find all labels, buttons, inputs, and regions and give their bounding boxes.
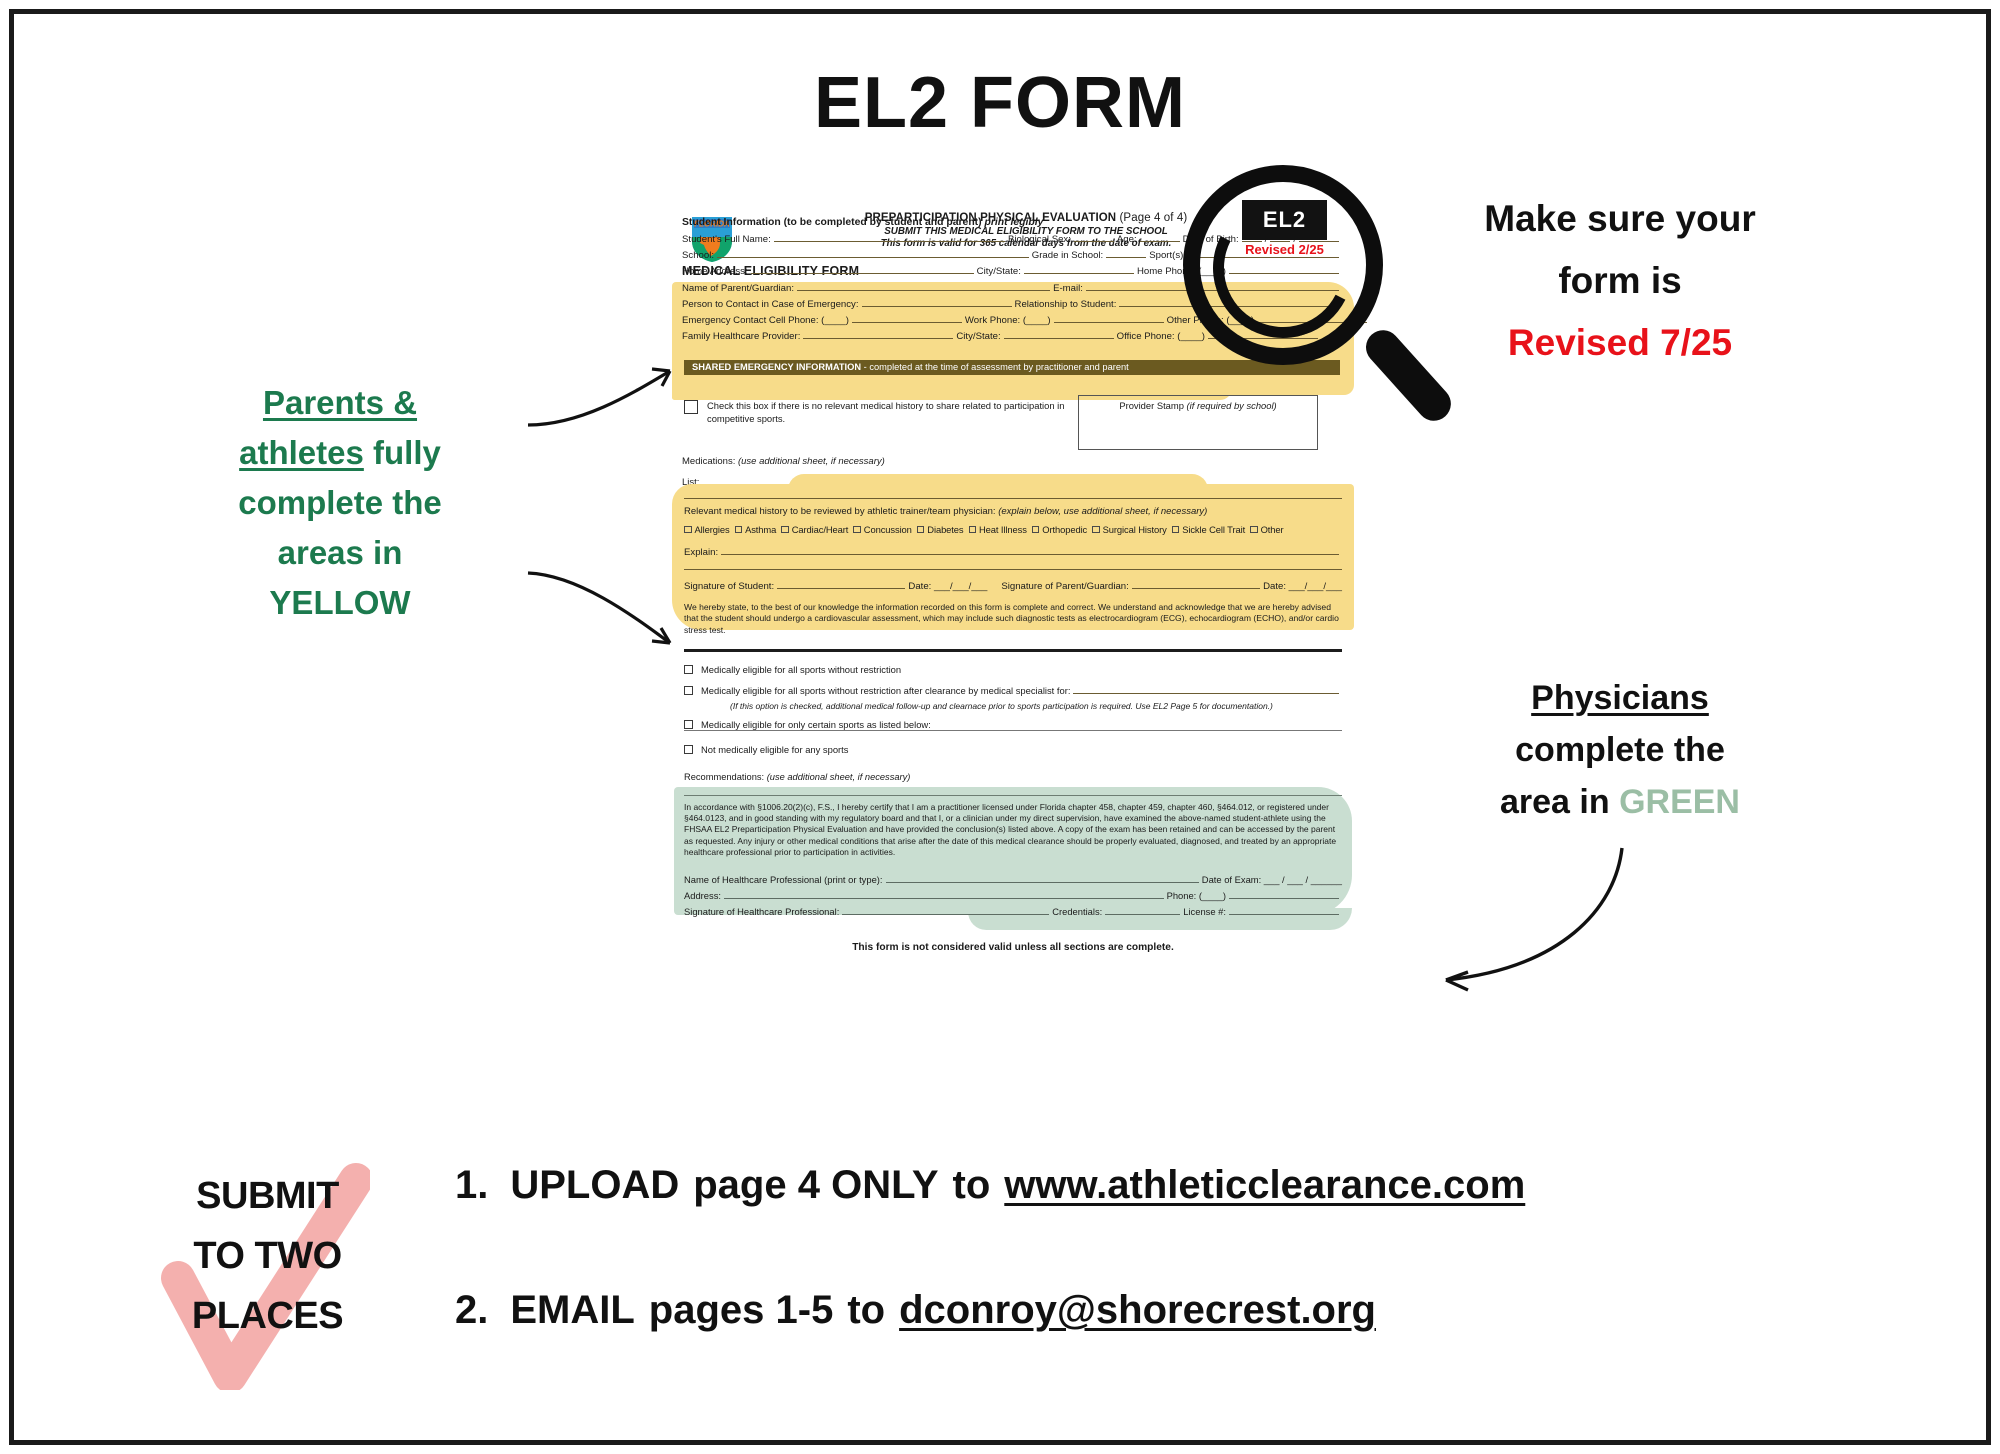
label-credentials: Credentials: xyxy=(1052,904,1102,920)
hereby-statement: We hereby state, to the best of our know… xyxy=(684,602,1342,636)
input-license[interactable] xyxy=(1229,904,1339,915)
annotation-parents-athletes: Parents & athletes fully complete the ar… xyxy=(175,378,505,628)
input-school[interactable] xyxy=(717,247,1029,258)
eligibility-option-label: Medically eligible for all sports withou… xyxy=(701,664,901,675)
condition-label: Sickle Cell Trait xyxy=(1182,524,1245,535)
step2-to: to xyxy=(847,1288,885,1332)
annotation-left-line2-underlined: athletes xyxy=(239,434,364,471)
label-grade: Grade in School: xyxy=(1032,248,1103,263)
annotation-physicians-line2: complete the xyxy=(1515,731,1725,769)
label-relationship: Relationship to Student: xyxy=(1015,297,1117,312)
label-family-provider: Family Healthcare Provider: xyxy=(682,329,800,344)
submit-line2: TO TWO xyxy=(193,1235,341,1277)
signature-row: Signature of Student: Date: ___/___/___ … xyxy=(684,578,1342,594)
label-work-phone: Work Phone: (____) xyxy=(965,313,1051,328)
student-info-heading: Student Information xyxy=(682,217,781,228)
annotation-left-line2-rest: fully xyxy=(364,434,441,471)
label-provider-city-state: City/State: xyxy=(956,329,1000,344)
no-history-label: Check this box if there is no relevant m… xyxy=(707,400,1104,425)
checkbox-square[interactable] xyxy=(1032,526,1040,534)
el2-badge: EL2 xyxy=(1242,200,1327,240)
step1-number: 1. xyxy=(455,1163,488,1207)
eligibility-option-label: Medically eligible for all sports withou… xyxy=(701,685,1070,696)
input-credentials[interactable] xyxy=(1105,904,1180,915)
checkbox-square[interactable] xyxy=(735,526,743,534)
step1-object: page 4 ONLY xyxy=(693,1163,938,1207)
checkbox-item[interactable]: Diabetes xyxy=(917,524,964,535)
input-city-state[interactable] xyxy=(1024,263,1134,274)
legal-paragraph: In accordance with §1006.20(2)(c), F.S.,… xyxy=(684,802,1342,858)
label-age: Age: xyxy=(1117,232,1137,247)
step2-action: EMAIL xyxy=(510,1288,634,1332)
label-date-of-exam: Date of Exam: ___ / ___ / ______ xyxy=(1202,872,1342,888)
arrow-to-green-section xyxy=(1410,840,1640,1000)
medications-italic: (use additional sheet, if necessary) xyxy=(738,456,885,467)
page-title: EL2 FORM xyxy=(0,62,2000,144)
label-emergency-cell: Emergency Contact Cell Phone: (____) xyxy=(682,313,849,328)
checkbox-eligible-certain-sports[interactable] xyxy=(684,720,693,729)
label-date-parent: Date: ___/___/___ xyxy=(1263,579,1342,594)
annotation-right-line2: form is xyxy=(1558,260,1681,301)
input-home-address[interactable] xyxy=(751,263,974,274)
condition-label: Concussion xyxy=(864,524,912,535)
submit-step-2: 2.EMAILpages 1-5todconroy@shorecrest.org xyxy=(455,1288,1376,1333)
input-work-phone[interactable] xyxy=(1054,312,1164,323)
annotation-left-line1: Parents & xyxy=(263,384,417,421)
el2-revised-text: Revised 2/25 xyxy=(1242,242,1327,257)
poster-page: EL2 FORM FLORIDA PREPARTICIPATION PHYSIC… xyxy=(0,0,2000,1454)
checkbox-item[interactable]: Sickle Cell Trait xyxy=(1172,524,1245,535)
validity-note: This form is not considered valid unless… xyxy=(668,942,1358,953)
input-signature-parent[interactable] xyxy=(1132,578,1260,589)
checkbox-item[interactable]: Heat Illness xyxy=(969,524,1027,535)
annotation-green-word: GREEN xyxy=(1619,783,1740,821)
explain-row: Explain: xyxy=(684,544,1342,560)
input-signature-student[interactable] xyxy=(777,578,905,589)
history-intro: Relevant medical history to be reviewed … xyxy=(684,506,996,517)
label-hc-address: Address: xyxy=(684,888,721,904)
submit-to-two-places-label: SUBMIT TO TWO PLACES xyxy=(150,1166,385,1346)
field-row-hc-address: Address: Phone: (____) xyxy=(684,888,1342,904)
field-row-hc-name: Name of Healthcare Professional (print o… xyxy=(684,872,1342,888)
checkbox-square[interactable] xyxy=(1250,526,1258,534)
arrow-to-yellow-bottom xyxy=(520,545,720,675)
input-provider-city-state[interactable] xyxy=(1004,328,1114,339)
eligibility-options: Medically eligible for all sports withou… xyxy=(684,664,1342,738)
input-hc-name[interactable] xyxy=(886,872,1199,883)
history-intro-italic: (explain below, use additional sheet, if… xyxy=(998,506,1207,517)
checkbox-item[interactable]: Concussion xyxy=(853,524,912,535)
input-hc-address[interactable] xyxy=(724,888,1164,899)
section-divider-thick xyxy=(684,649,1342,652)
annotation-physicians-underlined: Physicians xyxy=(1531,679,1709,717)
label-hc-phone: Phone: (____) xyxy=(1167,888,1226,904)
checkbox-not-eligible[interactable] xyxy=(684,745,693,754)
el2-badge-text: EL2 xyxy=(1263,207,1306,233)
annotation-left-line3: complete the xyxy=(238,484,442,521)
label-biological-sex: Biological Sex: xyxy=(1008,232,1071,247)
eligibility-option-row[interactable]: Medically eligible for all sports withou… xyxy=(684,664,1342,675)
step2-link-email[interactable]: dconroy@shorecrest.org xyxy=(899,1288,1376,1332)
submit-line1: SUBMIT xyxy=(196,1175,339,1217)
arrow-to-yellow-top xyxy=(520,345,720,455)
no-history-checkbox-row[interactable]: Check this box if there is no relevant m… xyxy=(684,400,1104,425)
checkbox-item[interactable]: Other xyxy=(1250,524,1283,535)
input-emergency-cell[interactable] xyxy=(852,312,962,323)
condition-label: Diabetes xyxy=(927,524,963,535)
condition-label: Surgical History xyxy=(1103,524,1167,535)
healthcare-professional-fields: Name of Healthcare Professional (print o… xyxy=(684,872,1342,920)
condition-label: Orthopedic xyxy=(1042,524,1087,535)
step1-link-athleticclearance[interactable]: www.athleticclearance.com xyxy=(1004,1163,1525,1207)
step2-number: 2. xyxy=(455,1288,488,1332)
condition-label: Heat Illness xyxy=(979,524,1027,535)
eligibility-option-label: Not medically eligible for any sports xyxy=(701,744,848,755)
history-condition-checkboxes: AllergiesAsthmaCardiac/HeartConcussionDi… xyxy=(684,524,1342,535)
step1-action: UPLOAD xyxy=(510,1163,679,1207)
checkbox-square[interactable] xyxy=(684,526,692,534)
eligibility-option-row[interactable]: Medically eligible for only certain spor… xyxy=(684,719,1342,730)
eligibility-divider xyxy=(684,730,1342,731)
checkbox-item[interactable]: Surgical History xyxy=(1092,524,1167,535)
checkbox-eligible-after-clearance[interactable] xyxy=(684,686,693,695)
checkbox-square[interactable] xyxy=(853,526,861,534)
annotation-physicians-line3-prefix: area in xyxy=(1500,783,1619,821)
label-license: License #: xyxy=(1183,904,1226,920)
label-home-address: Home Address: xyxy=(682,264,748,279)
input-grade[interactable] xyxy=(1106,247,1146,258)
medications-label: Medications: xyxy=(682,456,735,467)
label-emergency-contact: Person to Contact in Case of Emergency: xyxy=(682,297,859,312)
annotation-left-line5: YELLOW xyxy=(269,584,410,621)
eligibility-option-row[interactable]: Not medically eligible for any sports xyxy=(684,744,1342,755)
condition-label: Allergies xyxy=(695,524,730,535)
label-city-state: City/State: xyxy=(977,264,1021,279)
eligibility-option-label: Medically eligible for only certain spor… xyxy=(701,719,931,730)
step2-object: pages 1-5 xyxy=(649,1288,834,1332)
shared-bar-rest: - completed at the time of assessment by… xyxy=(861,362,1129,372)
label-full-name: Student's Full Name: xyxy=(682,232,771,247)
student-info-heading-paren: (to be completed by student and parent) xyxy=(784,217,982,228)
input-biological-sex[interactable] xyxy=(1074,231,1114,242)
label-hc-name: Name of Healthcare Professional (print o… xyxy=(684,872,883,888)
annotation-physicians-green: Physicians complete the area in GREEN xyxy=(1420,672,1820,828)
recommendations-row: Recommendations: (use additional sheet, … xyxy=(684,772,910,782)
label-parent-guardian: Name of Parent/Guardian: xyxy=(682,281,794,296)
input-parent-guardian[interactable] xyxy=(797,280,1050,291)
checkbox-item[interactable]: Cardiac/Heart xyxy=(781,524,848,535)
green-divider xyxy=(684,795,1342,796)
input-hc-phone[interactable] xyxy=(1229,888,1339,899)
annotation-left-line4: areas in xyxy=(278,534,403,571)
checkbox-item[interactable]: Orthopedic xyxy=(1032,524,1087,535)
history-intro-row: Relevant medical history to be reviewed … xyxy=(684,506,1342,517)
input-family-provider[interactable] xyxy=(803,328,953,339)
checkbox-square[interactable] xyxy=(1172,526,1180,534)
condition-label: Other xyxy=(1261,524,1284,535)
checkbox-square[interactable] xyxy=(917,526,925,534)
recommendations-label: Recommendations: xyxy=(684,772,764,782)
field-row-hc-signature: Signature of Healthcare Professional: Cr… xyxy=(684,904,1342,920)
annotation-make-sure-revised: Make sure your form is Revised 7/25 xyxy=(1420,188,1820,374)
student-info-heading-italic: print legibly xyxy=(985,217,1044,228)
submit-step-1: 1.UPLOADpage 4 ONLYtowww.athleticclearan… xyxy=(455,1163,1525,1208)
input-explain[interactable] xyxy=(721,544,1339,555)
medical-history-fields: Relevant medical history to be reviewed … xyxy=(684,494,1342,577)
divider-line-2 xyxy=(684,569,1342,570)
step1-to: to xyxy=(953,1163,991,1207)
label-hc-signature: Signature of Healthcare Professional: xyxy=(684,904,839,920)
condition-label: Asthma xyxy=(745,524,776,535)
annotation-right-revised: Revised 7/25 xyxy=(1508,322,1732,363)
annotation-right-line1: Make sure your xyxy=(1484,198,1755,239)
divider-line xyxy=(684,498,1342,499)
medications-label-row: Medications: (use additional sheet, if n… xyxy=(682,456,885,467)
condition-label: Cardiac/Heart xyxy=(792,524,849,535)
submit-line3: PLACES xyxy=(192,1295,343,1337)
checkbox-square[interactable] xyxy=(969,526,977,534)
input-full-name[interactable] xyxy=(774,231,1005,242)
label-email: E-mail: xyxy=(1053,281,1083,296)
label-signature-parent: Signature of Parent/Guardian: xyxy=(1001,579,1128,594)
label-school: School: xyxy=(682,248,714,263)
eligibility-note: (If this option is checked, additional m… xyxy=(730,701,1342,711)
checkbox-item[interactable]: Asthma xyxy=(735,524,777,535)
input-hc-signature[interactable] xyxy=(842,904,1049,915)
input-emergency-contact[interactable] xyxy=(862,296,1012,307)
label-date-student: Date: ___/___/___ xyxy=(908,579,987,594)
eligibility-option-row[interactable]: Medically eligible for all sports withou… xyxy=(684,683,1342,696)
checkbox-square[interactable] xyxy=(781,526,789,534)
recommendations-italic: (use additional sheet, if necessary) xyxy=(767,772,911,782)
input-specialist[interactable] xyxy=(1073,683,1339,694)
checkbox-item[interactable]: Allergies xyxy=(684,524,730,535)
checkbox-square[interactable] xyxy=(1092,526,1100,534)
